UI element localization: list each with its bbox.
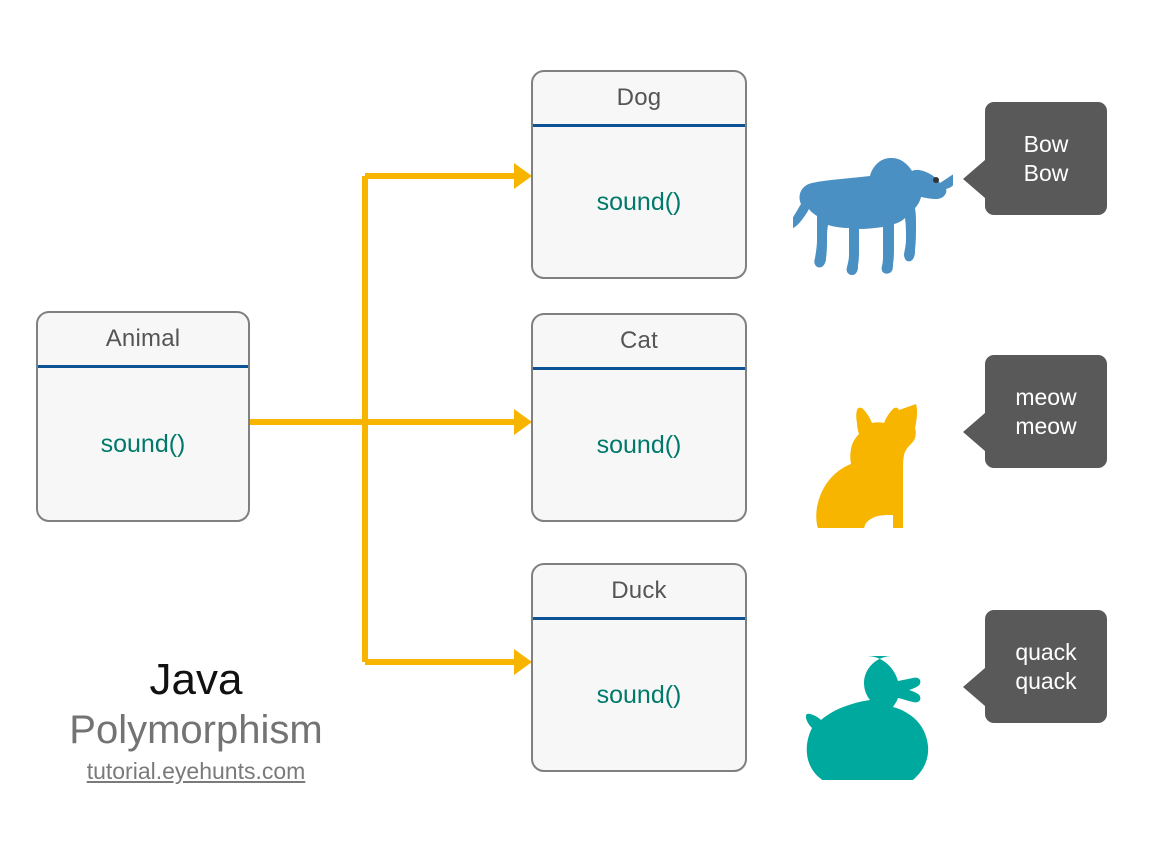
class-name-duck: Duck: [611, 577, 666, 605]
bubble-tail-cat: [963, 413, 985, 451]
bubble-duck-line-1: quack: [1015, 638, 1076, 666]
speech-bubble-duck: quack quack: [985, 610, 1107, 723]
bubble-dog-line-1: Bow: [1024, 130, 1069, 158]
class-header-dog: Dog: [533, 72, 745, 127]
class-header-cat: Cat: [533, 315, 745, 370]
class-header-duck: Duck: [533, 565, 745, 620]
dog-silhouette: [793, 158, 953, 275]
caption-url-link[interactable]: tutorial.eyehunts.com: [87, 758, 306, 785]
method-cat-sound: sound(): [597, 431, 682, 460]
bubble-dog-line-2: Bow: [1024, 159, 1069, 187]
class-box-duck[interactable]: Duck sound(): [531, 563, 747, 772]
arrowhead-cat: [514, 409, 532, 435]
bubble-cat-line-1: meow: [1015, 383, 1076, 411]
class-box-animal[interactable]: Animal sound(): [36, 311, 250, 522]
speech-bubble-dog: Bow Bow: [985, 102, 1107, 215]
bubble-duck-line-2: quack: [1015, 667, 1076, 695]
method-animal-sound: sound(): [101, 430, 186, 459]
class-body-animal: sound(): [38, 368, 248, 520]
arrowhead-dog: [514, 163, 532, 189]
method-duck-sound: sound(): [597, 681, 682, 710]
method-dog-sound: sound(): [597, 188, 682, 217]
bubble-cat-line-2: meow: [1015, 412, 1076, 440]
cat-silhouette: [802, 404, 917, 528]
class-name-cat: Cat: [620, 327, 658, 355]
duck-icon: [806, 650, 956, 780]
class-body-cat: sound(): [533, 370, 745, 520]
caption-title: Java: [36, 655, 356, 706]
bubble-tail-duck: [963, 668, 985, 706]
class-body-duck: sound(): [533, 620, 745, 770]
class-body-dog: sound(): [533, 127, 745, 277]
speech-bubble-cat: meow meow: [985, 355, 1107, 468]
class-name-animal: Animal: [106, 325, 181, 353]
cat-icon: [802, 398, 942, 528]
arrowhead-duck: [514, 649, 532, 675]
class-box-cat[interactable]: Cat sound(): [531, 313, 747, 522]
dog-nose: [933, 177, 939, 183]
caption-subtitle: Polymorphism: [36, 706, 356, 754]
dog-icon: [793, 158, 953, 278]
duck-silhouette: [806, 656, 928, 780]
class-name-dog: Dog: [617, 84, 662, 112]
bubble-tail-dog: [963, 160, 985, 198]
class-header-animal: Animal: [38, 313, 248, 368]
class-box-dog[interactable]: Dog sound(): [531, 70, 747, 279]
caption-block: Java Polymorphism tutorial.eyehunts.com: [36, 655, 356, 785]
diagram-canvas: Animal sound() Dog sound() Cat sound() D…: [0, 0, 1158, 856]
